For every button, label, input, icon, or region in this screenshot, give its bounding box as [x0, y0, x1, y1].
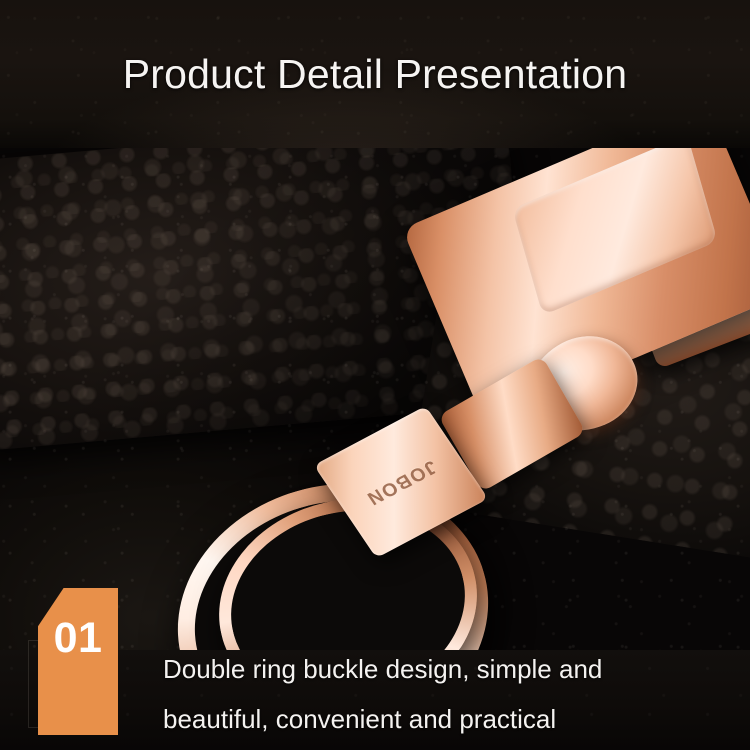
page-title: Product Detail Presentation [0, 0, 750, 148]
caption-line-1: Double ring buckle design, simple and [163, 644, 723, 694]
caption-text-block: Double ring buckle design, simple and be… [163, 644, 723, 744]
product-detail-slide: Product Detail Presentation JOBON 01 Dou… [0, 0, 750, 750]
step-number-badge [38, 588, 118, 735]
caption-line-2: beautiful, convenient and practical [163, 694, 723, 744]
